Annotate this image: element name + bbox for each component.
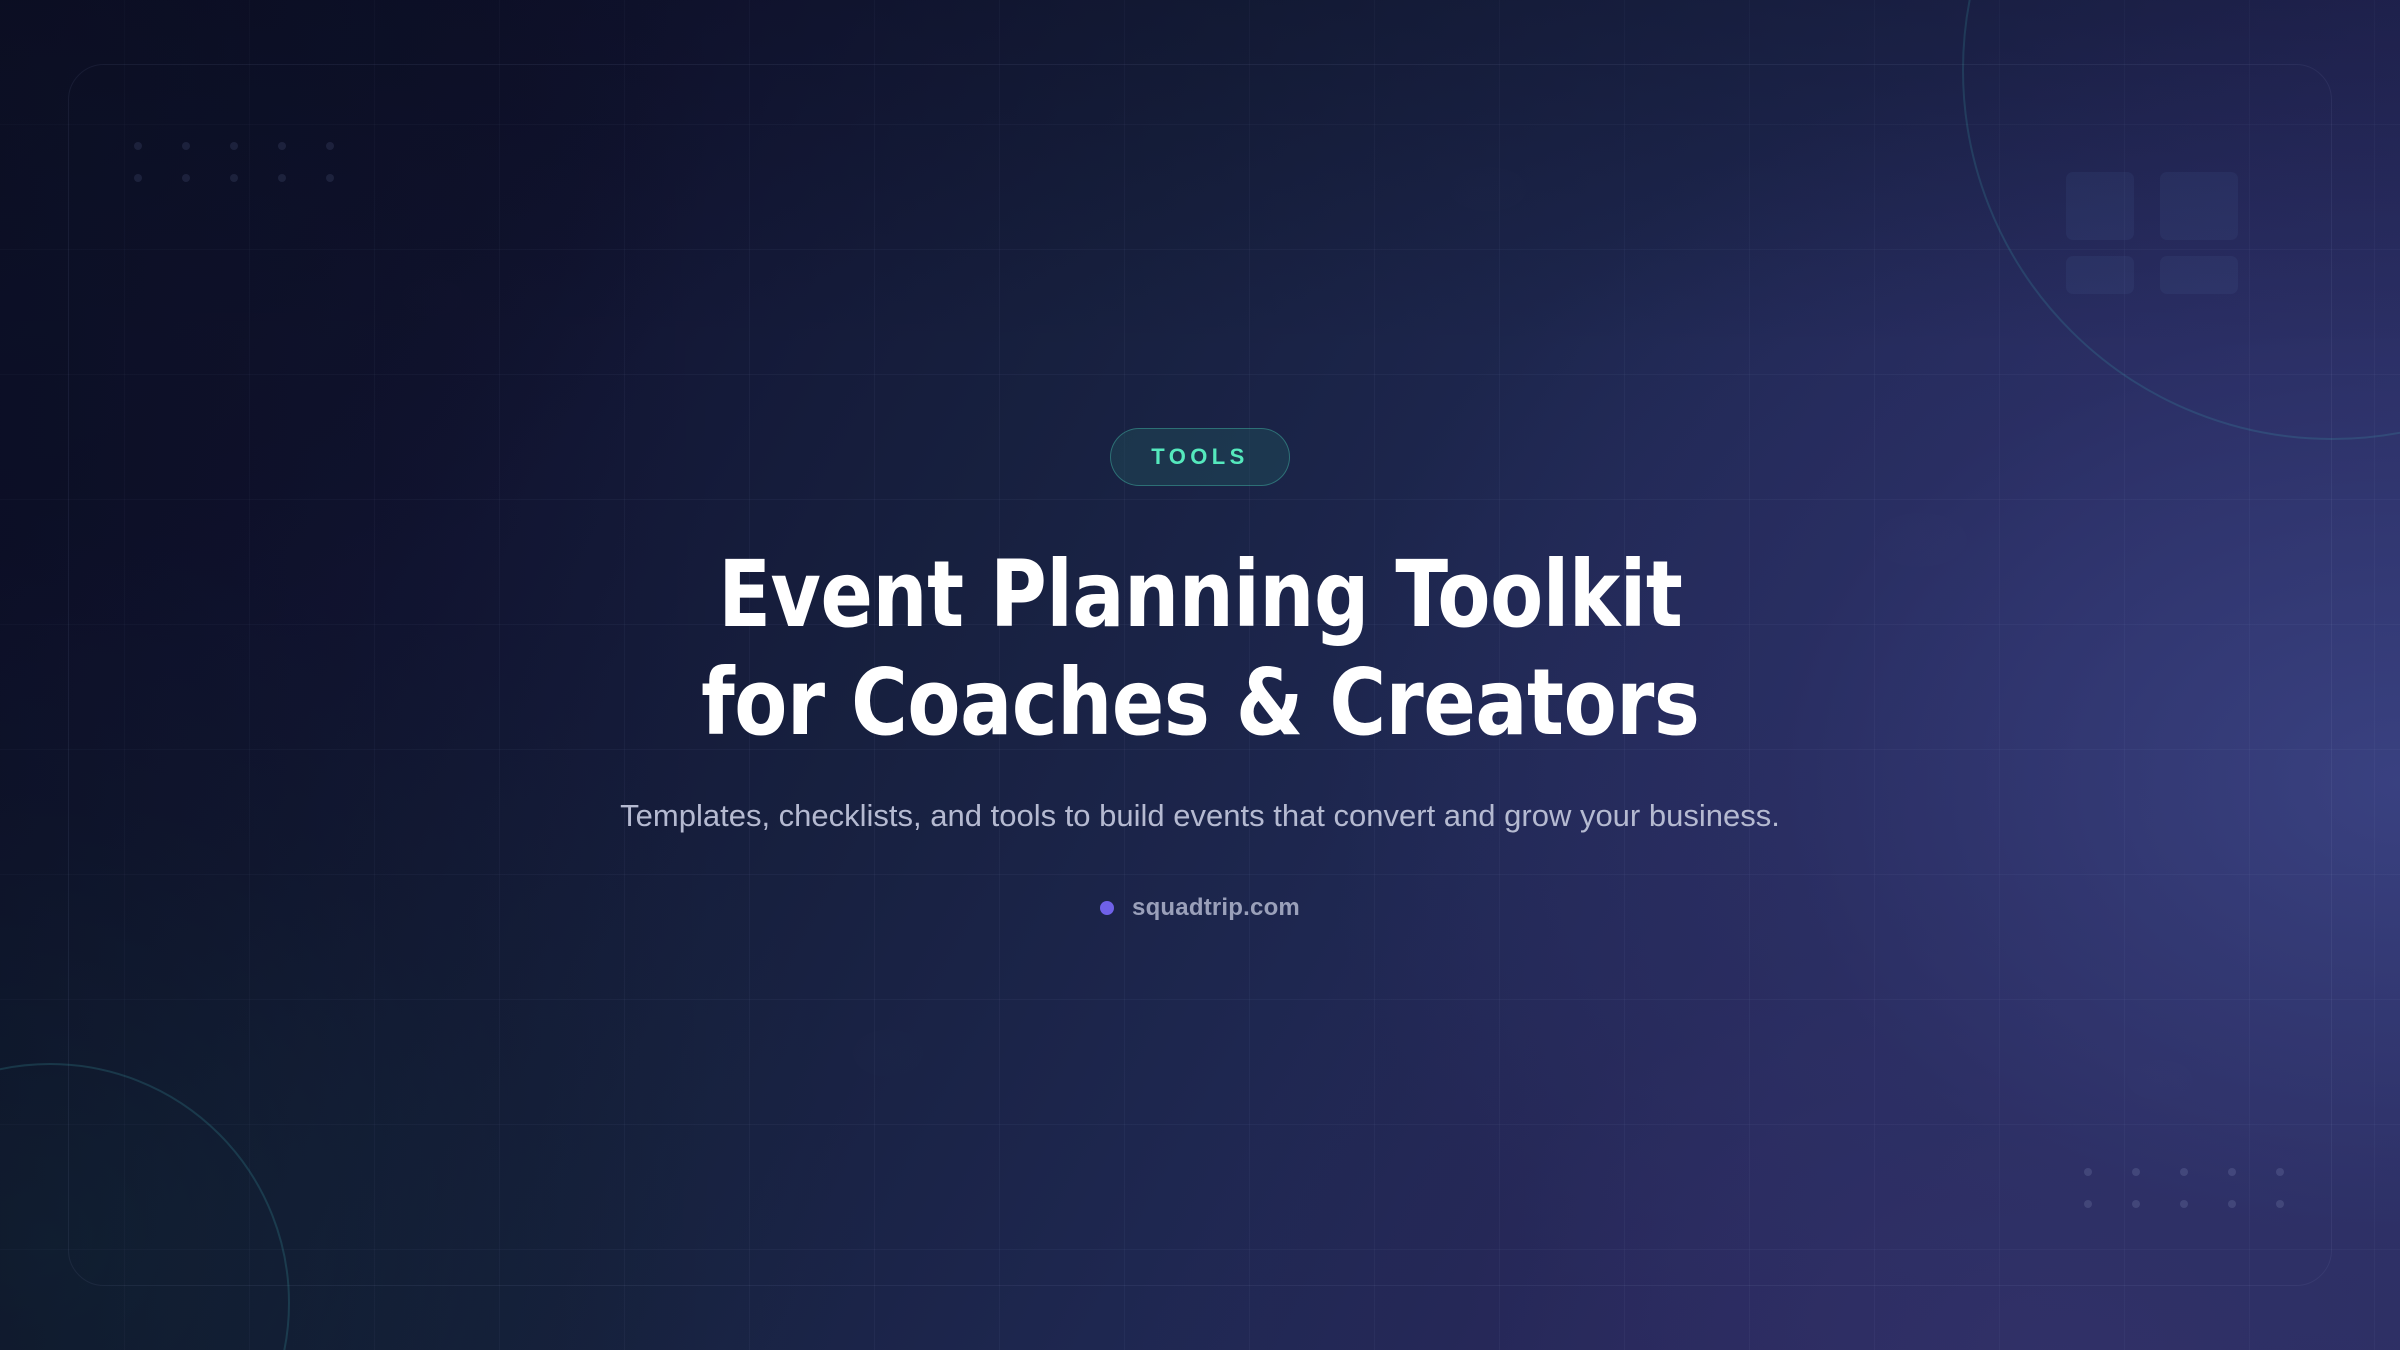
page-title: Event Planning Toolkit for Coaches & Cre… — [701, 548, 1699, 750]
slide-canvas: TOOLS Event Planning Toolkit for Coaches… — [0, 0, 2400, 1350]
page-title-line-2: for Coaches & Creators — [701, 656, 1699, 750]
page-title-line-1: Event Planning Toolkit — [701, 548, 1699, 642]
slide-content: TOOLS Event Planning Toolkit for Coaches… — [0, 0, 2400, 1350]
page-subtitle: Templates, checklists, and tools to buil… — [555, 794, 1845, 838]
source-attribution: squadtrip.com — [1100, 894, 1300, 922]
source-label: squadtrip.com — [1132, 894, 1300, 922]
bullet-dot-icon — [1100, 901, 1114, 915]
category-badge: TOOLS — [1110, 428, 1289, 486]
